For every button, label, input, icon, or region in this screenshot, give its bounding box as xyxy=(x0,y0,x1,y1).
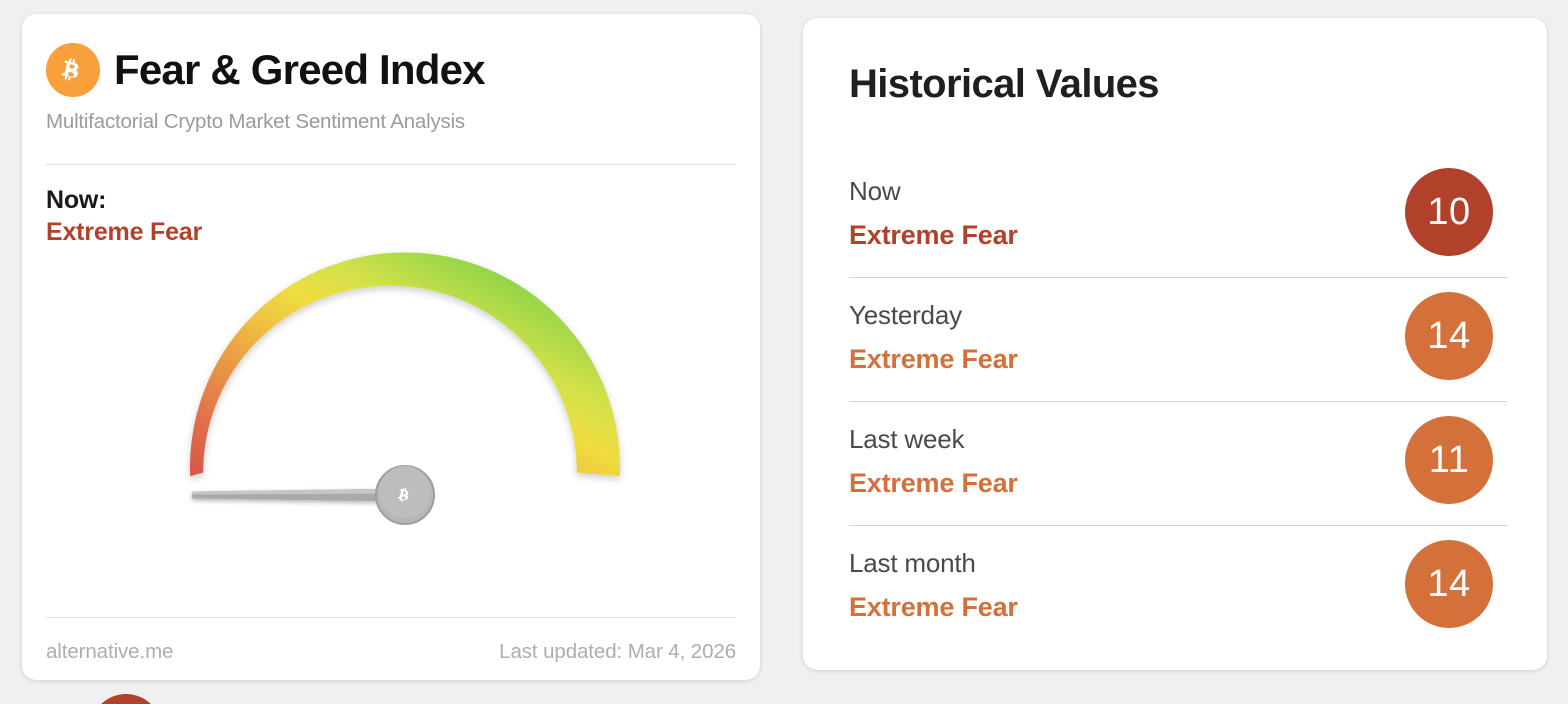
historical-row-value-badge: 10 xyxy=(1405,168,1493,256)
historical-row-value-badge-text: 14 xyxy=(1427,563,1470,606)
gauge-arc xyxy=(190,252,620,476)
historical-row-label: Yesterday xyxy=(849,300,962,331)
historical-row-value-badge-text: 11 xyxy=(1429,439,1469,482)
historical-row-classification: Extreme Fear xyxy=(849,468,1018,499)
historical-values-title: Historical Values xyxy=(849,62,1159,106)
historical-row-value-badge-text: 10 xyxy=(1427,191,1470,234)
historical-row-value-badge: 14 xyxy=(1405,292,1493,380)
historical-row-label: Last week xyxy=(849,424,964,455)
gauge-visualization: 10 xyxy=(22,242,760,612)
gauge-arc-svg xyxy=(74,242,674,612)
title-row: Fear & Greed Index xyxy=(46,42,736,98)
fear-greed-gauge-card: Fear & Greed Index Multifactorial Crypto… xyxy=(22,14,760,680)
historical-row: Last monthExtreme Fear14 xyxy=(849,526,1507,650)
gauge-card-header: Fear & Greed Index Multifactorial Crypto… xyxy=(46,42,736,154)
gauge-card-footer: alternative.me Last updated: Mar 4, 2026 xyxy=(46,640,736,664)
historical-values-list: NowExtreme Fear10YesterdayExtreme Fear14… xyxy=(849,154,1507,650)
page-title: Fear & Greed Index xyxy=(114,49,485,91)
footer-divider xyxy=(46,617,736,618)
gauge-needle-hub xyxy=(376,466,434,524)
historical-row-value-badge-text: 14 xyxy=(1427,315,1470,358)
historical-row-label: Last month xyxy=(849,548,976,579)
historical-row-classification: Extreme Fear xyxy=(849,220,1018,251)
header-divider xyxy=(46,164,736,165)
page-subtitle: Multifactorial Crypto Market Sentiment A… xyxy=(46,110,736,135)
now-block: Now: Extreme Fear xyxy=(46,184,202,248)
historical-row: YesterdayExtreme Fear14 xyxy=(849,278,1507,402)
gauge-value-badge: 10 xyxy=(90,694,162,704)
page-root: Fear & Greed Index Multifactorial Crypto… xyxy=(0,0,1568,704)
gauge-needle xyxy=(192,489,405,502)
historical-row-label: Now xyxy=(849,176,900,207)
historical-row-value-badge: 14 xyxy=(1405,540,1493,628)
source-link[interactable]: alternative.me xyxy=(46,640,173,664)
historical-row-classification: Extreme Fear xyxy=(849,344,1018,375)
last-updated-text: Last updated: Mar 4, 2026 xyxy=(499,640,736,664)
bitcoin-icon xyxy=(46,43,100,97)
now-label: Now: xyxy=(46,184,202,216)
historical-row: Last weekExtreme Fear11 xyxy=(849,402,1507,526)
historical-values-card: Historical Values NowExtreme Fear10Yeste… xyxy=(803,18,1547,670)
historical-row-value-badge: 11 xyxy=(1405,416,1493,504)
historical-row: NowExtreme Fear10 xyxy=(849,154,1507,278)
historical-row-classification: Extreme Fear xyxy=(849,592,1018,623)
